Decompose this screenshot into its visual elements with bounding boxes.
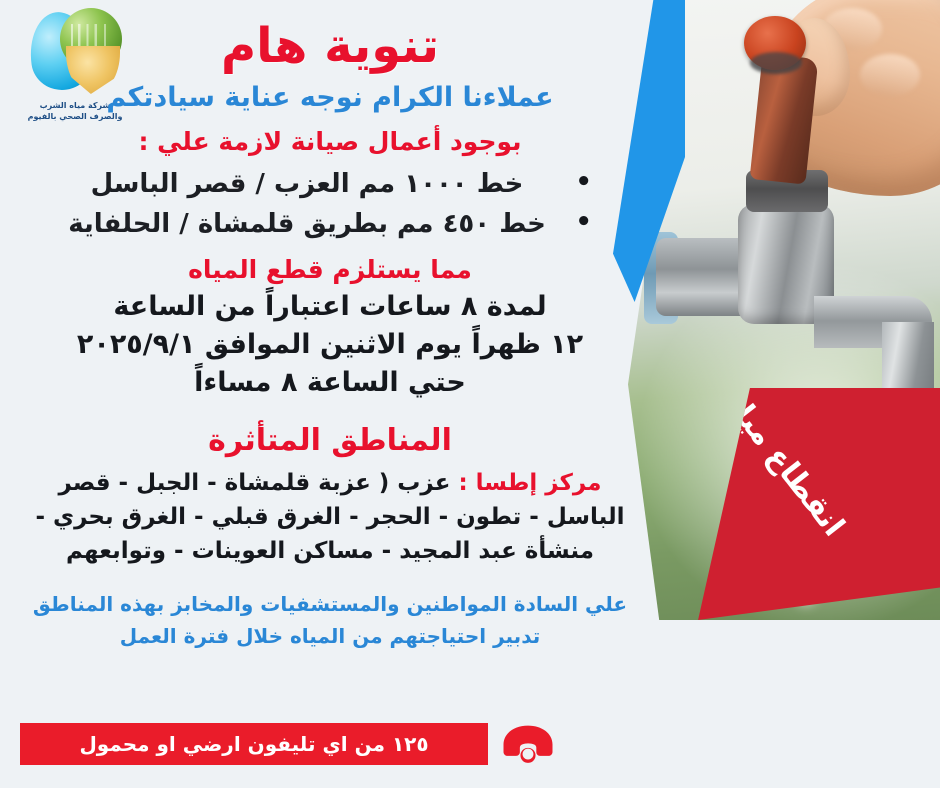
schedule-line: لمدة ٨ ساعات اعتباراً من الساعة: [0, 288, 660, 326]
public-notice: علي السادة المواطنين والمستشفيات والمخاب…: [0, 588, 660, 652]
maintenance-list: خط ١٠٠٠ مم العزب / قصر الباسل خط ٤٥٠ مم …: [50, 164, 610, 245]
affected-areas-title: المناطق المتأثرة: [0, 423, 660, 458]
list-item: خط ٤٥٠ مم بطريق قلمشاة / الحلفاية: [50, 204, 610, 244]
poster-content: تنوية هام عملاءنا الكرام نوجه عناية سياد…: [0, 0, 660, 652]
subtitle: عملاءنا الكرام نوجه عناية سيادتكم: [0, 82, 660, 113]
page-title: تنوية هام: [0, 18, 660, 74]
center-label: مركز إطسا :: [458, 470, 601, 496]
hotline-bar-group: ١٢٥ من اي تليفون ارضي او محمول: [20, 722, 556, 766]
schedule-line: حتي الساعة ٨ مساءاً: [0, 364, 660, 402]
telephone-icon: [500, 722, 556, 766]
notice-line: علي السادة المواطنين والمستشفيات والمخاب…: [0, 588, 660, 620]
notice-line: تدبير احتياجتهم من المياه خلال فترة العم…: [0, 620, 660, 652]
schedule-line: ١٢ ظهراً يوم الاثنين الموافق ٢٠٢٥/٩/١: [0, 326, 660, 364]
outage-required-line: مما يستلزم قطع المياه: [0, 255, 660, 284]
lead-line: بوجود أعمال صيانة لازمة علي :: [0, 127, 660, 156]
hotline-number-bar[interactable]: ١٢٥ من اي تليفون ارضي او محمول: [20, 723, 488, 765]
affected-areas-body: مركز إطسا : عزب ( عزبة قلمشاة - الجبل - …: [25, 466, 635, 568]
outage-schedule: لمدة ٨ ساعات اعتباراً من الساعة ١٢ ظهراً…: [0, 288, 660, 403]
announcement-poster: انقطاع مياه شركة مياه الشرب والصرف الصحي…: [0, 0, 940, 788]
tap-handle-icon: [744, 16, 806, 70]
list-item: خط ١٠٠٠ مم العزب / قصر الباسل: [50, 164, 610, 204]
